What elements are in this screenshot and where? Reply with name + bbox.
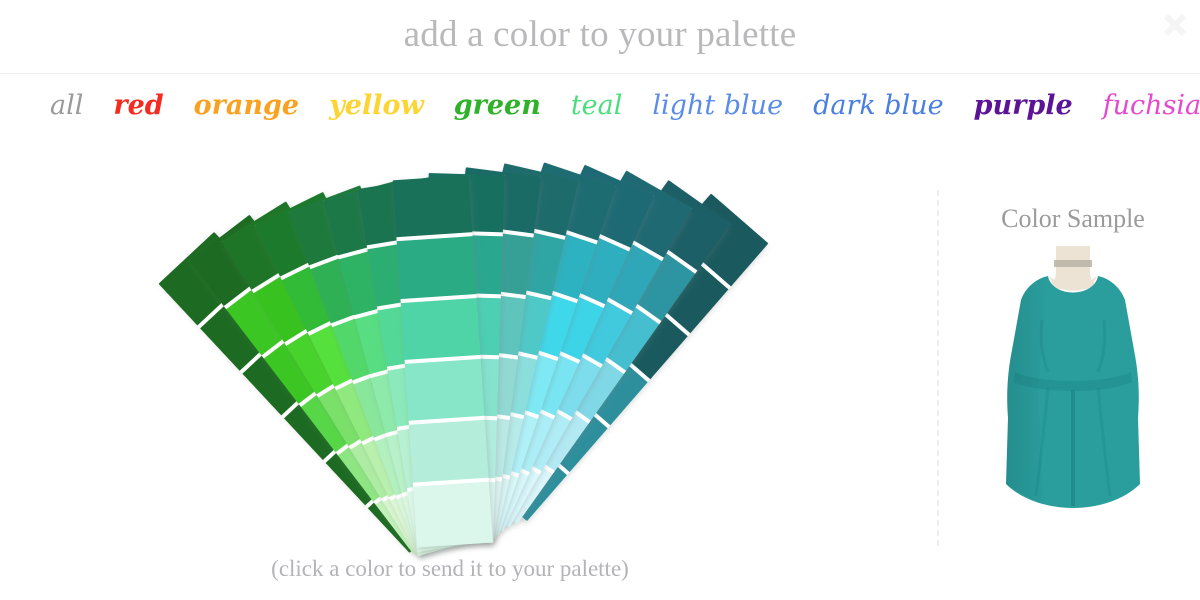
tab-purple[interactable]: purple: [970, 90, 1077, 121]
dress-sample-image: [950, 242, 1196, 552]
color-sample-panel: Color Sample: [950, 190, 1196, 550]
color-category-tabbar: allredorangeyellowgreenteallight bluedar…: [0, 74, 1200, 174]
tab-yellow[interactable]: yellow: [325, 90, 428, 121]
tab-fuchsia[interactable]: fuchsia: [1099, 90, 1200, 121]
tab-teal[interactable]: teal: [567, 90, 627, 121]
tab-all[interactable]: all: [46, 90, 87, 121]
color-swatch[interactable]: [401, 298, 481, 364]
add-color-modal: add a color to your palette allredorange…: [0, 0, 1200, 600]
tab-dark-blue[interactable]: dark blue: [809, 90, 948, 121]
page-title: add a color to your palette: [0, 13, 1200, 56]
color-sample-title: Color Sample: [950, 204, 1196, 234]
color-swatch[interactable]: [413, 481, 493, 547]
color-swatch[interactable]: [405, 359, 485, 425]
tab-orange[interactable]: orange: [190, 90, 303, 121]
color-swatch[interactable]: [397, 236, 477, 302]
color-fan-area: [0, 168, 910, 558]
color-swatch[interactable]: [393, 175, 473, 241]
modal-header: add a color to your palette: [0, 0, 1200, 74]
tab-red[interactable]: red: [109, 90, 167, 121]
color-category-tablist: allredorangeyellowgreenteallight bluedar…: [46, 90, 1200, 121]
fan-hint-text: (click a color to send it to your palett…: [0, 556, 900, 582]
tab-light-blue[interactable]: light blue: [648, 90, 787, 121]
panel-divider: [937, 190, 939, 546]
close-icon[interactable]: [1158, 8, 1192, 42]
tab-green[interactable]: green: [450, 90, 545, 121]
color-fan[interactable]: [0, 168, 910, 558]
color-swatch[interactable]: [409, 420, 489, 486]
